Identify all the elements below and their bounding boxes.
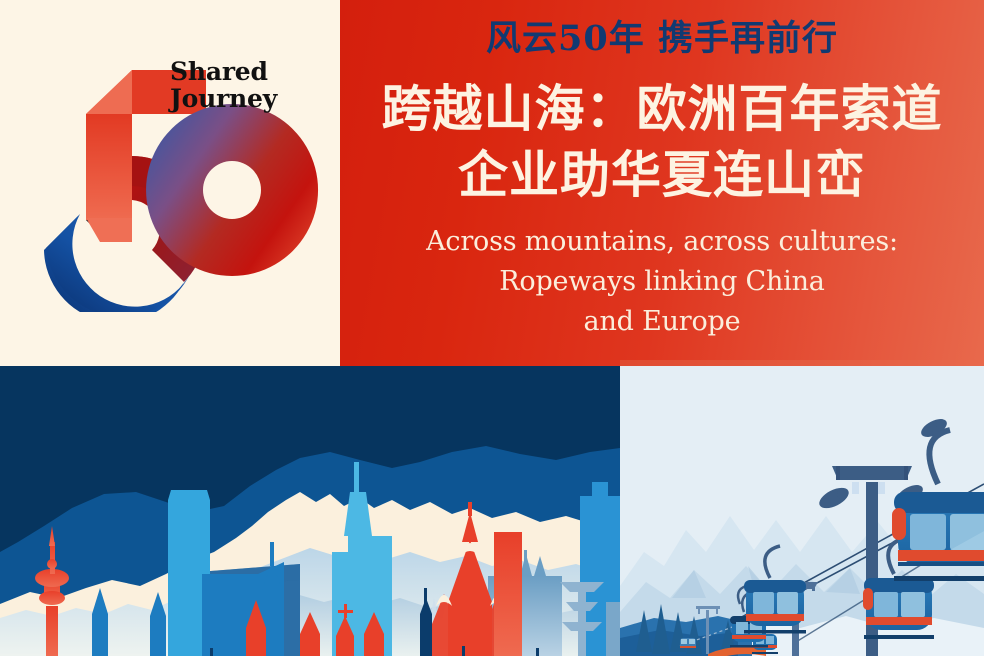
headline-chinese: 跨越山海：欧洲百年索道 企业助华夏连山峦 — [340, 76, 984, 208]
logo-wordmark: Shared Journey — [170, 58, 330, 112]
logo-wordmark-line-2: Journey — [170, 85, 330, 112]
subheadline-line-2: Ropeways linking China — [340, 262, 984, 302]
headline-line-2: 企业助华夏连山峦 — [340, 142, 984, 208]
subheadline-line-1: Across mountains, across cultures: — [340, 222, 984, 262]
headline-line-1: 跨越山海：欧洲百年索道 — [340, 76, 984, 142]
ropeway-illustration — [620, 366, 984, 656]
poster-root: Shared Journey 风云50年 携手再前行 跨越山海：欧洲百年索道 企… — [0, 0, 984, 656]
logo-wordmark-line-1: Shared — [170, 58, 330, 85]
subheadline-english: Across mountains, across cultures: Ropew… — [340, 222, 984, 342]
subheadline-line-3: and Europe — [340, 302, 984, 342]
headline-panel: 风云50年 携手再前行 跨越山海：欧洲百年索道 企业助华夏连山峦 Across … — [340, 0, 984, 366]
skyline-illustration — [0, 366, 620, 656]
logo-panel: Shared Journey — [0, 0, 340, 366]
kicker-chinese: 风云50年 携手再前行 — [340, 10, 984, 61]
gondola-6 — [680, 638, 696, 648]
